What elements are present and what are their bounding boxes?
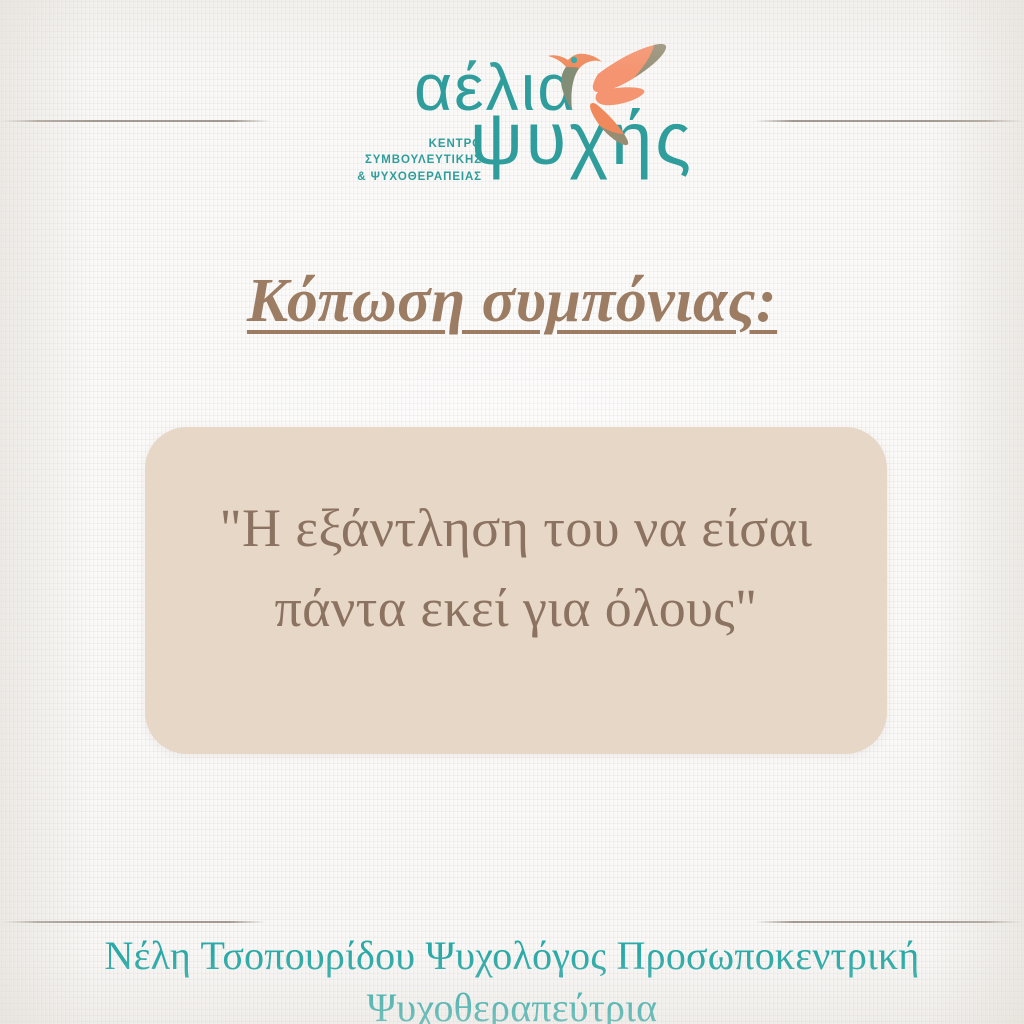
divider-bottom-right bbox=[755, 921, 1024, 923]
footer-credit: Νέλη Τσοπουρίδου Ψυχολόγος Προσωποκεντρι… bbox=[0, 930, 1024, 1024]
footer-line-2: Ψυχοθεραπεύτρια bbox=[0, 982, 1024, 1024]
footer-line-1: Νέλη Τσοπουρίδου Ψυχολόγος Προσωποκεντρι… bbox=[0, 930, 1024, 982]
poster-canvas: ΚΕΝΤΡΟ ΣΥΜΒΟΥΛΕΥΤΙΚΗΣ & ΨΥΧΟΘΕΡΑΠΕΙΑΣ αέ… bbox=[0, 0, 1024, 1024]
logo-subtitle: ΚΕΝΤΡΟ ΣΥΜΒΟΥΛΕΥΤΙΚΗΣ & ΨΥΧΟΘΕΡΑΠΕΙΑΣ bbox=[322, 136, 482, 185]
page-title: Κόπωση συμπόνιας: bbox=[0, 268, 1024, 335]
quote-line-2: πάντα εκεί για όλους" bbox=[173, 569, 859, 649]
quote-text: "Η εξάντληση του να είσαι πάντα εκεί για… bbox=[173, 489, 859, 649]
divider-bottom-left bbox=[0, 921, 266, 923]
hummingbird-icon bbox=[540, 18, 670, 148]
logo-subtitle-line1: ΚΕΝΤΡΟ ΣΥΜΒΟΥΛΕΥΤΙΚΗΣ bbox=[365, 138, 482, 166]
brand-logo: ΚΕΝΤΡΟ ΣΥΜΒΟΥΛΕΥΤΙΚΗΣ & ΨΥΧΟΘΕΡΑΠΕΙΑΣ αέ… bbox=[0, 8, 1024, 208]
quote-line-1: "Η εξάντληση του να είσαι bbox=[173, 489, 859, 569]
quote-card: "Η εξάντληση του να είσαι πάντα εκεί για… bbox=[145, 427, 887, 754]
logo-subtitle-line2: & ΨΥΧΟΘΕΡΑΠΕΙΑΣ bbox=[357, 171, 482, 183]
logo-wrap: ΚΕΝΤΡΟ ΣΥΜΒΟΥΛΕΥΤΙΚΗΣ & ΨΥΧΟΘΕΡΑΠΕΙΑΣ αέ… bbox=[322, 8, 702, 208]
